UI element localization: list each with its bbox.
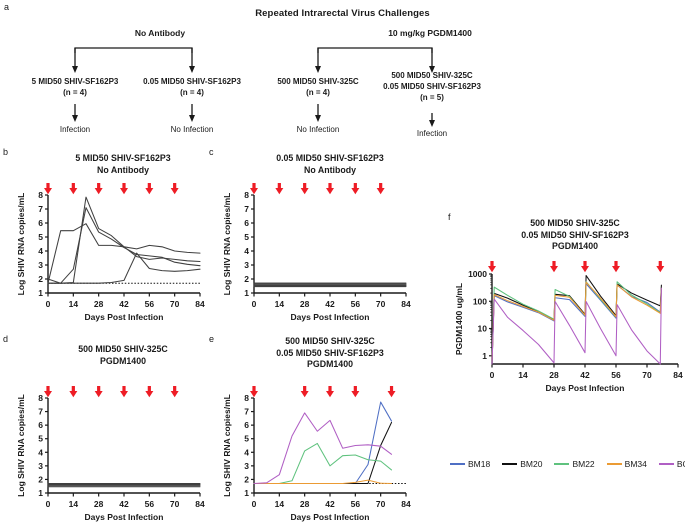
flow-arm-1-n: (n = 4): [63, 88, 87, 97]
y-axis-tick-label: 7: [38, 407, 43, 417]
legend-item-BM20: BM20: [502, 459, 542, 469]
y-axis-title: Log SHIV RNA copies/mL: [16, 193, 26, 296]
panel-c-title-line1: 0.05 MID50 SHIV-SF162P3: [276, 153, 384, 163]
y-axis-tick-label: 1: [244, 288, 249, 298]
x-axis-tick-label: 28: [300, 299, 310, 309]
y-axis-title: PGDM1400 ug/mL: [454, 283, 464, 355]
x-axis-tick-label: 56: [351, 499, 361, 509]
challenge-arrow-head: [250, 391, 258, 397]
y-axis-title: Log SHIV RNA copies/mL: [222, 193, 232, 296]
challenge-arrow-head: [145, 391, 153, 397]
challenge-arrow-head: [120, 188, 128, 194]
series-line-BM18: [254, 402, 392, 483]
y-axis-tick-label: 6: [244, 420, 249, 430]
challenge-arrow-head: [326, 391, 334, 397]
flow-outcome-1: Infection: [25, 125, 125, 134]
legend-label-BM20: BM20: [520, 459, 542, 469]
challenge-arrow-head: [612, 266, 620, 272]
panel-e-plot: 123456780142842567084Days Post Infection…: [206, 378, 416, 530]
challenge-arrow-head: [377, 188, 385, 194]
flow-arm-3: 500 MID50 SHIV-325C (n = 4): [253, 76, 383, 98]
y-axis-tick-label: 1: [38, 288, 43, 298]
y-axis-tick-label: 5: [38, 434, 43, 444]
x-axis-tick-label: 42: [325, 499, 335, 509]
y-axis-tick-label: 1: [244, 488, 249, 498]
panel-d-plot: 123456780142842567084Days Post Infection…: [0, 378, 210, 530]
flow-outcome-4: Infection: [382, 129, 482, 138]
x-axis-tick-label: 84: [673, 370, 683, 380]
y-axis-tick-label: 2: [244, 474, 249, 484]
x-axis-tick-label: 28: [300, 499, 310, 509]
series-line-BM18: [492, 284, 661, 364]
y-axis-tick-label: 5: [244, 232, 249, 242]
x-axis-tick-label: 84: [195, 299, 205, 309]
x-axis-tick-label: 70: [170, 299, 180, 309]
challenge-arrow-head: [351, 391, 359, 397]
x-axis-tick-label: 42: [119, 499, 129, 509]
challenge-arrow-head: [250, 188, 258, 194]
y-axis-tick-label: 2: [38, 474, 43, 484]
legend-swatch-BM34: [607, 463, 622, 465]
panel-e-title-line2: 0.05 MID50 SHIV-SF162P3: [276, 348, 384, 358]
x-axis-tick-label: 56: [611, 370, 621, 380]
challenge-arrow-icon: [351, 183, 359, 194]
panel-f-title-line2: 0.05 MID50 SHIV-SF162P3: [521, 230, 629, 240]
x-axis-title: Days Post Infection: [85, 512, 164, 522]
y-axis-tick-label: 6: [244, 218, 249, 228]
x-axis-tick-label: 0: [252, 299, 257, 309]
challenge-arrow-head: [550, 266, 558, 272]
panel-f-title: 500 MID50 SHIV-325C 0.05 MID50 SHIV-SF16…: [475, 218, 675, 253]
panel-letter-b: b: [3, 147, 8, 157]
y-axis-tick-label: 8: [38, 393, 43, 403]
challenge-arrow-icon: [388, 386, 396, 397]
challenge-arrow-icon: [171, 183, 179, 194]
legend-item-BM34: BM34: [607, 459, 647, 469]
x-axis-tick-label: 70: [376, 499, 386, 509]
legend-swatch-BC41: [659, 463, 674, 465]
x-axis-title: Days Post Infection: [85, 312, 164, 322]
panel-f-plot: 11010010000142842567084Days Post Infecti…: [440, 252, 685, 402]
challenge-arrow-head: [145, 188, 153, 194]
x-axis-tick-label: 14: [275, 299, 285, 309]
challenge-arrow-icon: [326, 183, 334, 194]
series-line-animal-3: [48, 208, 200, 284]
x-axis-tick-label: 56: [145, 299, 155, 309]
challenge-arrow-icon: [275, 183, 283, 194]
y-axis-tick-label: 1: [38, 488, 43, 498]
x-axis-tick-label: 28: [94, 499, 104, 509]
flow-arm-1-line1: 5 MID50 SHIV-SF162P3: [32, 77, 119, 86]
challenge-arrow-head: [95, 391, 103, 397]
panel-c-title-line2: No Antibody: [304, 165, 356, 175]
y-axis-tick-label: 7: [244, 204, 249, 214]
y-axis-tick-label: 5: [244, 434, 249, 444]
challenge-arrow-head: [44, 188, 52, 194]
challenge-arrow-icon: [581, 261, 589, 272]
panel-e-title-line3: PGDM1400: [307, 359, 353, 369]
challenge-arrow-head: [488, 266, 496, 272]
challenge-arrow-head: [581, 266, 589, 272]
y-axis-tick-label: 4: [244, 246, 249, 256]
series-line-BM20: [492, 276, 661, 364]
flow-arm-3-line1: 500 MID50 SHIV-325C: [277, 77, 358, 86]
x-axis-tick-label: 28: [94, 299, 104, 309]
x-axis-tick-label: 56: [145, 499, 155, 509]
x-axis-tick-label: 84: [195, 499, 205, 509]
legend-label-BM22: BM22: [572, 459, 594, 469]
x-axis-tick-label: 14: [518, 370, 528, 380]
legend-label-BM18: BM18: [468, 459, 490, 469]
y-axis-tick-label: 6: [38, 218, 43, 228]
x-axis-title: Days Post Infection: [291, 512, 370, 522]
flowchart-connectors: [0, 0, 685, 145]
y-axis-tick-label: 3: [38, 260, 43, 270]
x-axis-tick-label: 84: [401, 499, 411, 509]
challenge-arrow-head: [95, 188, 103, 194]
challenge-arrow-icon: [145, 386, 153, 397]
challenge-arrow-icon: [612, 261, 620, 272]
y-axis-tick-label: 1000: [468, 269, 487, 279]
y-axis-tick-label: 6: [38, 420, 43, 430]
challenge-arrow-head: [656, 266, 664, 272]
legend-label-BC41: BC41: [677, 459, 685, 469]
challenge-arrow-icon: [250, 386, 258, 397]
series-line-BM34: [254, 480, 392, 483]
challenge-arrow-icon: [120, 386, 128, 397]
x-axis-tick-label: 42: [119, 299, 129, 309]
x-axis-tick-label: 70: [170, 499, 180, 509]
series-line-animal-1: [48, 224, 200, 284]
flow-arm-4-line2: 0.05 MID50 SHIV-SF162P3: [383, 82, 481, 91]
flow-arm-2-n: (n = 4): [180, 88, 204, 97]
legend-swatch-BM22: [554, 463, 569, 465]
series-legend: BM18BM20BM22BM34BC41: [450, 459, 685, 469]
challenge-arrow-icon: [95, 386, 103, 397]
y-axis-tick-label: 100: [473, 296, 487, 306]
panel-b-title: 5 MID50 SHIV-SF162P3 No Antibody: [38, 153, 208, 176]
panel-b-title-line1: 5 MID50 SHIV-SF162P3: [75, 153, 170, 163]
flow-arm-4-n: (n = 5): [420, 93, 444, 102]
panel-e-title-line1: 500 MID50 SHIV-325C: [285, 336, 374, 346]
challenge-arrow-icon: [145, 183, 153, 194]
panel-letter-c: c: [209, 147, 214, 157]
flow-arm-2-line1: 0.05 MID50 SHIV-SF162P3: [143, 77, 241, 86]
challenge-arrow-head: [351, 188, 359, 194]
challenge-arrow-head: [171, 391, 179, 397]
challenge-arrow-icon: [69, 183, 77, 194]
x-axis-tick-label: 28: [549, 370, 559, 380]
legend-item-BM18: BM18: [450, 459, 490, 469]
challenge-arrow-head: [301, 188, 309, 194]
flow-outcome-2: No Infection: [142, 125, 242, 134]
challenge-arrow-icon: [120, 183, 128, 194]
y-axis-tick-label: 2: [244, 274, 249, 284]
challenge-arrow-icon: [326, 386, 334, 397]
legend-item-BC41: BC41: [659, 459, 685, 469]
challenge-arrow-head: [301, 391, 309, 397]
challenge-arrow-icon: [69, 386, 77, 397]
y-axis-tick-label: 7: [38, 204, 43, 214]
challenge-arrow-icon: [250, 183, 258, 194]
challenge-arrow-icon: [171, 386, 179, 397]
panel-b-title-line2: No Antibody: [97, 165, 149, 175]
y-axis-tick-label: 3: [38, 461, 43, 471]
panel-e-title: 500 MID50 SHIV-325C 0.05 MID50 SHIV-SF16…: [240, 336, 420, 371]
series-line-BM34: [492, 282, 661, 364]
panel-b-plot: 123456780142842567084Days Post Infection…: [0, 175, 210, 330]
challenge-arrow-head: [69, 391, 77, 397]
challenge-arrow-icon: [301, 386, 309, 397]
challenge-arrow-icon: [377, 183, 385, 194]
challenge-arrow-head: [120, 391, 128, 397]
y-axis-tick-label: 1: [482, 351, 487, 361]
panel-c-title: 0.05 MID50 SHIV-SF162P3 No Antibody: [240, 153, 420, 176]
x-axis-tick-label: 0: [490, 370, 495, 380]
challenge-arrow-head: [275, 188, 283, 194]
legend-swatch-BM20: [502, 463, 517, 465]
panel-d-title-line2: PGDM1400: [100, 356, 146, 366]
y-axis-tick-label: 3: [244, 260, 249, 270]
challenge-arrow-icon: [44, 183, 52, 194]
series-line-animal-2: [48, 197, 200, 283]
panel-letter-e: e: [209, 334, 214, 344]
challenge-arrow-head: [326, 188, 334, 194]
y-axis-tick-label: 4: [244, 447, 249, 457]
y-axis-title: Log SHIV RNA copies/mL: [16, 394, 26, 497]
challenge-arrow-icon: [488, 261, 496, 272]
panel-c-plot: 123456780142842567084Days Post Infection…: [206, 175, 416, 330]
panel-d-title: 500 MID50 SHIV-325C PGDM1400: [38, 344, 208, 367]
x-axis-tick-label: 0: [46, 499, 51, 509]
flow-arm-2: 0.05 MID50 SHIV-SF162P3 (n = 4): [122, 76, 262, 98]
legend-label-BM34: BM34: [625, 459, 647, 469]
challenge-arrow-head: [171, 188, 179, 194]
y-axis-tick-label: 3: [244, 461, 249, 471]
x-axis-tick-label: 0: [46, 299, 51, 309]
y-axis-tick-label: 7: [244, 407, 249, 417]
panel-letter-f: f: [448, 212, 451, 222]
panel-f-title-line3: PGDM1400: [552, 241, 598, 251]
series-line-BM22: [492, 282, 661, 364]
flow-arm-3-n: (n = 4): [306, 88, 330, 97]
panel-d-title-line1: 500 MID50 SHIV-325C: [78, 344, 167, 354]
challenge-arrow-icon: [44, 386, 52, 397]
x-axis-tick-label: 14: [69, 299, 79, 309]
y-axis-title: Log SHIV RNA copies/mL: [222, 394, 232, 497]
x-axis-title: Days Post Infection: [291, 312, 370, 322]
x-axis-title: Days Post Infection: [546, 383, 625, 393]
y-axis-tick-label: 8: [244, 190, 249, 200]
y-axis-tick-label: 4: [38, 246, 43, 256]
flow-arm-4: 500 MID50 SHIV-325C 0.05 MID50 SHIV-SF16…: [368, 70, 496, 103]
x-axis-tick-label: 56: [351, 299, 361, 309]
challenge-arrow-head: [69, 188, 77, 194]
y-axis-tick-label: 8: [38, 190, 43, 200]
series-line-animal-4: [48, 253, 200, 283]
x-axis-tick-label: 14: [69, 499, 79, 509]
challenge-arrow-icon: [95, 183, 103, 194]
y-axis-tick-label: 10: [478, 324, 488, 334]
panel-letter-d: d: [3, 334, 8, 344]
challenge-arrow-head: [388, 391, 396, 397]
challenge-arrow-head: [44, 391, 52, 397]
challenge-arrow-icon: [301, 183, 309, 194]
x-axis-tick-label: 70: [376, 299, 386, 309]
challenge-arrow-icon: [656, 261, 664, 272]
x-axis-tick-label: 0: [252, 499, 257, 509]
y-axis-tick-label: 8: [244, 393, 249, 403]
legend-item-BM22: BM22: [554, 459, 594, 469]
challenge-arrow-icon: [550, 261, 558, 272]
x-axis-tick-label: 42: [325, 299, 335, 309]
panel-f-title-line1: 500 MID50 SHIV-325C: [530, 218, 619, 228]
legend-swatch-BM18: [450, 463, 465, 465]
x-axis-tick-label: 14: [275, 499, 285, 509]
x-axis-tick-label: 42: [580, 370, 590, 380]
y-axis-tick-label: 5: [38, 232, 43, 242]
x-axis-tick-label: 70: [642, 370, 652, 380]
y-axis-tick-label: 4: [38, 447, 43, 457]
y-axis-tick-label: 2: [38, 274, 43, 284]
x-axis-tick-label: 84: [401, 299, 411, 309]
flow-arm-4-line1: 500 MID50 SHIV-325C: [391, 71, 472, 80]
challenge-arrow-icon: [351, 386, 359, 397]
flow-outcome-3: No Infection: [268, 125, 368, 134]
